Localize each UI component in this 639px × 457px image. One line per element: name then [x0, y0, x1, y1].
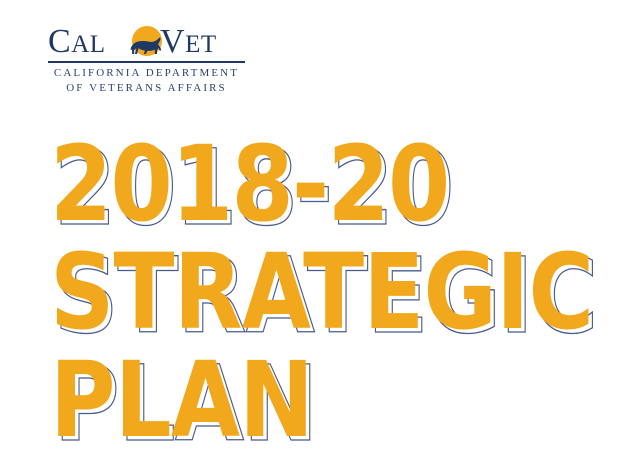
logo-subtitle-line-2: OF VETERANS AFFAIRS	[48, 81, 245, 96]
logo-wordmark: CAL VET	[48, 22, 248, 62]
logo-word-cal: CAL	[48, 22, 106, 65]
cover-title: 2018-20 2018-20 STRATEGIC STRATEGIC PLAN…	[50, 130, 630, 454]
logo-cal-rest: AL	[71, 31, 105, 58]
title-line-year-range-text: 2018-20	[50, 130, 448, 238]
title-line-plan-text: PLAN	[50, 346, 313, 454]
title-line-plan: PLAN PLAN	[50, 346, 630, 454]
logo-subtitle: CALIFORNIA DEPARTMENT OF VETERANS AFFAIR…	[48, 66, 245, 96]
title-line-strategic-text: STRATEGIC	[50, 238, 593, 346]
title-line-year-range: 2018-20 2018-20	[50, 130, 630, 238]
logo-vet-initial: V	[160, 23, 185, 60]
logo-vet-rest: ET	[185, 31, 217, 58]
cover-page: CAL VET CALIFORNIA DEPARTMENT OF VETERAN…	[0, 0, 639, 457]
logo-word-vet: VET	[160, 22, 217, 65]
logo-divider-rule	[48, 61, 245, 63]
title-line-strategic: STRATEGIC STRATEGIC	[50, 238, 630, 346]
calvet-logo: CAL VET CALIFORNIA DEPARTMENT OF VETERAN…	[48, 22, 248, 62]
logo-cal-initial: C	[48, 23, 71, 60]
logo-subtitle-line-1: CALIFORNIA DEPARTMENT	[48, 66, 245, 81]
